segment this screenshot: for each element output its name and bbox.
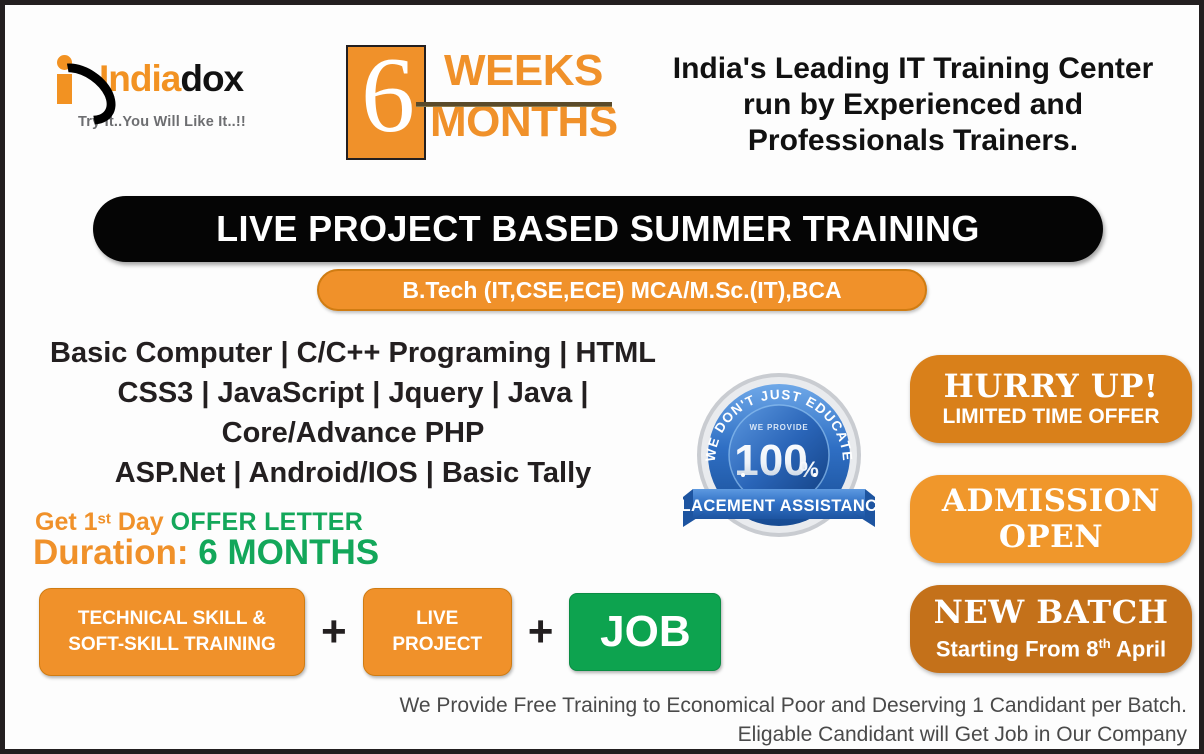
indiadox-logo-icon <box>41 50 103 106</box>
header-section: Indiadox Try It..You Will Like It..!! 6 … <box>5 27 1199 167</box>
cta-hurry-up[interactable]: HURRY UP! LIMITED TIME OFFER <box>910 355 1192 443</box>
header-tagline-line3: Professionals Trainers. <box>633 123 1193 159</box>
eligibility-banner-text: B.Tech (IT,CSE,ECE) MCA/M.Sc.(IT),BCA <box>402 277 841 304</box>
duration-line: Duration: 6 MONTHS <box>33 533 379 573</box>
header-tagline-line1: India's Leading IT Training Center <box>633 51 1193 87</box>
offer-get-suffix: Day <box>111 508 171 536</box>
duration-badge-number: 6 <box>348 38 428 153</box>
chain-box-training: TECHNICAL SKILL & SOFT-SKILL TRAINING <box>39 588 305 676</box>
cta-batch-title: NEW BATCH <box>934 594 1169 630</box>
course-line: ASP.Net | Android/IOS | Basic Tally <box>23 453 683 493</box>
eligibility-banner: B.Tech (IT,CSE,ECE) MCA/M.Sc.(IT),BCA <box>317 269 927 311</box>
course-line: Core/Advance PHP <box>23 413 683 453</box>
chain-box-project-line1: LIVE <box>392 606 482 632</box>
seal-percent-number: 100 <box>734 436 807 485</box>
value-chain: TECHNICAL SKILL & SOFT-SKILL TRAINING + … <box>39 588 721 676</box>
cta-hurry-subtitle: LIMITED TIME OFFER <box>943 404 1160 430</box>
chain-box-training-line1: TECHNICAL SKILL & <box>68 606 276 632</box>
cta-batch-subtitle: Starting From 8th April <box>936 630 1166 663</box>
chain-box-project-line2: PROJECT <box>392 632 482 658</box>
duration-badge: 6 WEEKS MONTHS <box>346 45 611 167</box>
duration-value: 6 MONTHS <box>198 533 379 572</box>
footer-line1: We Provide Free Training to Economical P… <box>5 691 1187 720</box>
duration-badge-weeks: WEEKS <box>430 45 610 96</box>
header-tagline: India's Leading IT Training Center run b… <box>633 51 1193 159</box>
cta-admission-line1: ADMISSION <box>942 483 1160 519</box>
seal-ribbon-text: PLACEMENT ASSISTANCE <box>683 497 875 515</box>
cta-new-batch[interactable]: NEW BATCH Starting From 8th April <box>910 585 1192 673</box>
plus-sign-icon: + <box>512 610 570 654</box>
chain-box-training-line2: SOFT-SKILL TRAINING <box>68 632 276 658</box>
offer-letter-text: OFFER LETTER <box>171 508 363 536</box>
brand-name-part2: dox <box>180 58 243 99</box>
chain-box-job: JOB <box>569 593 721 671</box>
cta-hurry-title: HURRY UP! <box>944 368 1159 404</box>
footer-note: We Provide Free Training to Economical P… <box>5 691 1195 749</box>
cta-batch-sub-suffix: April <box>1111 637 1166 662</box>
logo-row: Indiadox <box>37 49 287 107</box>
cta-admission-line2: OPEN <box>999 519 1103 555</box>
cta-admission-open[interactable]: ADMISSION OPEN <box>910 475 1192 563</box>
chain-box-live-project: LIVE PROJECT <box>363 588 512 676</box>
offer-get-superscript: st <box>98 511 111 528</box>
offer-get-prefix: Get 1 <box>35 508 98 536</box>
header-tagline-line2: run by Experienced and <box>633 87 1193 123</box>
seal-percent-symbol: % <box>799 457 819 482</box>
seal-small-text: WE PROVIDE <box>749 423 808 432</box>
duration-badge-box: 6 <box>346 45 426 160</box>
duration-badge-divider <box>416 102 612 107</box>
cta-batch-sub-prefix: Starting From 8 <box>936 637 1099 662</box>
main-banner-text: LIVE PROJECT BASED SUMMER TRAINING <box>216 208 980 250</box>
brand-name: Indiadox <box>99 60 243 97</box>
placement-assistance-seal-icon: WE DON'T JUST EDUCATE WE PROVIDE 100 % P… <box>683 363 875 555</box>
footer-line2: Eligable Candidant will Get Job in Our C… <box>5 720 1187 749</box>
cta-batch-sub-superscript: th <box>1098 636 1110 651</box>
course-line: CSS3 | JavaScript | Jquery | Java | <box>23 373 683 413</box>
poster-container: Indiadox Try It..You Will Like It..!! 6 … <box>0 0 1204 754</box>
main-banner: LIVE PROJECT BASED SUMMER TRAINING <box>93 196 1103 262</box>
course-line: Basic Computer | C/C++ Programing | HTML <box>23 333 683 373</box>
duration-label: Duration: <box>33 533 198 572</box>
brand-logo: Indiadox Try It..You Will Like It..!! <box>37 49 287 130</box>
plus-sign-icon: + <box>305 610 363 654</box>
course-list: Basic Computer | C/C++ Programing | HTML… <box>23 333 683 493</box>
